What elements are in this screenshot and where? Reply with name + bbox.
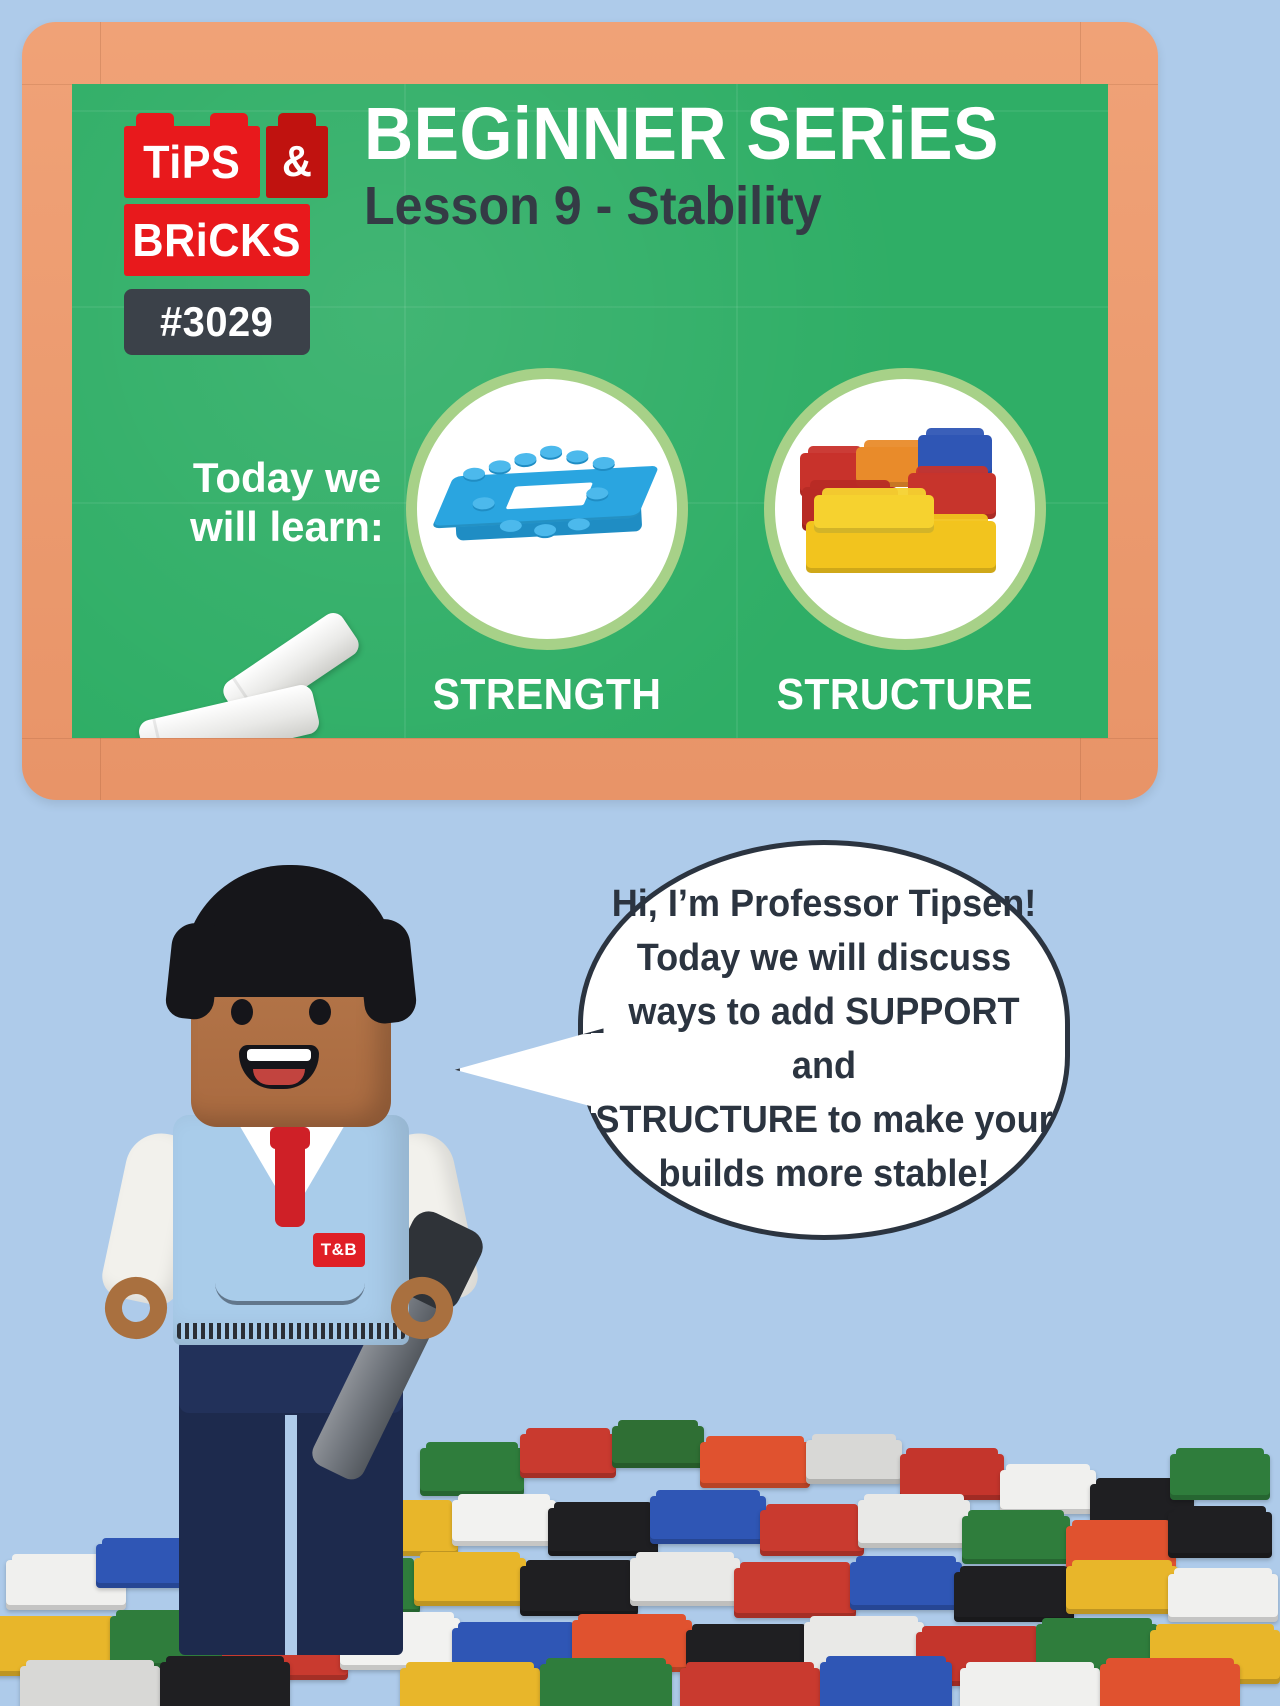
logo-brick-tips: TiPS [124, 126, 260, 198]
pile-brick [1170, 1454, 1270, 1500]
lesson-number-badge: #3029 [124, 289, 310, 355]
pile-brick [1100, 1664, 1240, 1706]
chalkboard-surface: TiPS & BRiCKS #3029 BEGiNNER SERiES Less… [72, 84, 1108, 738]
pile-brick [612, 1426, 704, 1468]
minifigure-torso: T&B [173, 1115, 409, 1345]
pile-brick [548, 1508, 658, 1556]
pile-brick [1000, 1470, 1096, 1514]
pile-brick [850, 1562, 962, 1610]
pile-brick [520, 1434, 616, 1478]
speech-bubble-tail [454, 1028, 607, 1115]
pile-brick [452, 1500, 556, 1546]
torso-logo-patch: T&B [313, 1233, 365, 1267]
logo-brick-bricks: BRiCKS [124, 204, 310, 276]
pile-brick [700, 1442, 810, 1488]
pile-brick [1168, 1512, 1272, 1558]
chalkboard-frame: TiPS & BRiCKS #3029 BEGiNNER SERiES Less… [22, 22, 1158, 800]
pile-brick [960, 1668, 1100, 1706]
pile-brick [540, 1664, 672, 1706]
pile-brick [858, 1500, 970, 1548]
speech-bubble: Hi, I’m Professor Tipsen! Today we will … [578, 840, 1070, 1240]
brick-yellow [814, 495, 934, 533]
topic-label-structure: STRUCTURE [777, 670, 1034, 720]
topic-image-circle [764, 368, 1046, 650]
topic-image-circle [406, 368, 688, 650]
topic-strength: STRENGTH [402, 368, 692, 720]
logo-top-row: TiPS & [124, 126, 374, 198]
learn-label: Today we will learn: [172, 454, 402, 551]
eye-icon [309, 999, 331, 1025]
stacked-bricks-icon [790, 429, 1020, 589]
topic-label-strength: STRENGTH [433, 670, 662, 720]
tips-and-bricks-logo: TiPS & BRiCKS #3029 [124, 126, 374, 355]
pile-brick [400, 1668, 540, 1706]
logo-brick-ampersand: & [266, 126, 328, 198]
sweater-hem [177, 1323, 405, 1339]
brick-stud-icon [278, 113, 316, 128]
pile-brick [520, 1566, 638, 1616]
minifigure-professor-tipsen: T&B [95, 865, 465, 1655]
sweater-fold [215, 1283, 365, 1305]
topic-structure: STRUCTURE [760, 368, 1050, 720]
pile-brick [1066, 1566, 1178, 1614]
brick-stud-icon [566, 450, 589, 463]
pile-brick [630, 1558, 740, 1606]
eye-icon [231, 999, 253, 1025]
brick-stud-icon [210, 113, 248, 128]
pile-brick [1168, 1574, 1278, 1622]
lesson-subtitle: Lesson 9 - Stability [364, 179, 1006, 233]
pile-brick [820, 1662, 952, 1706]
pile-brick [680, 1668, 820, 1706]
logo-text-ampersand: & [282, 140, 312, 184]
pile-brick [806, 1440, 902, 1484]
topics-row: STRENGTH STRUCTURE [402, 368, 1052, 720]
pile-brick [954, 1572, 1074, 1622]
pile-brick [650, 1496, 766, 1544]
brick-stud-icon [514, 452, 537, 465]
lesson-number-text: #3029 [160, 298, 273, 346]
brick-stud-icon [136, 113, 174, 128]
logo-text-bricks: BRiCKS [133, 217, 302, 263]
blue-frame-plate-icon [433, 428, 661, 589]
board-heading-group: BEGiNNER SERiES Lesson 9 - Stability [364, 98, 1054, 233]
scene-area: T&B Hi, I’m Professor Tipsen! Today we w… [0, 800, 1280, 1706]
brick-stud-icon [488, 460, 511, 473]
pile-brick [962, 1516, 1070, 1564]
series-title: BEGiNNER SERiES [364, 98, 999, 169]
smile-icon [239, 1045, 319, 1089]
brick-stud-icon [540, 445, 563, 458]
pile-brick [20, 1666, 160, 1706]
torso-patch-label: T&B [321, 1240, 357, 1260]
plate-hole [506, 482, 594, 509]
speech-bubble-text: Hi, I’m Professor Tipsen! Today we will … [595, 878, 1053, 1202]
pile-brick [160, 1662, 290, 1706]
necktie-icon [275, 1141, 305, 1227]
logo-text-tips: TiPS [143, 139, 240, 185]
minifigure-hair [183, 865, 397, 997]
pile-brick [734, 1568, 856, 1618]
pile-brick [760, 1510, 864, 1556]
